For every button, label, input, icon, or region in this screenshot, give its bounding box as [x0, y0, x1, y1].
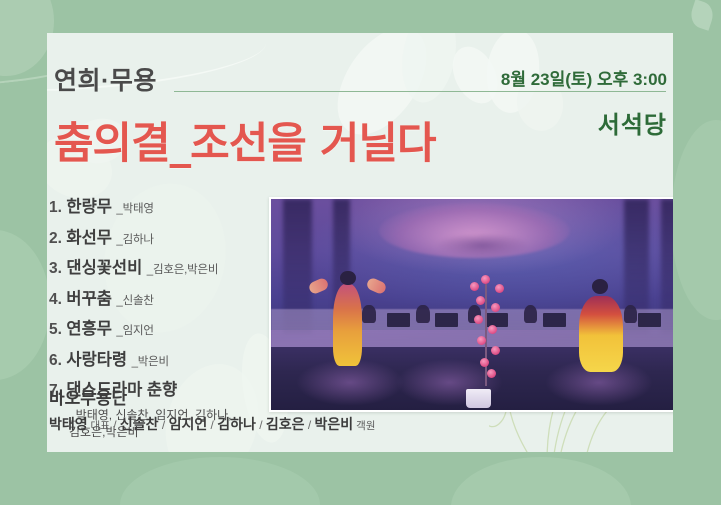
performance-date: 8월 23일(토) 오후 3:00	[501, 65, 667, 90]
program-item: 5. 연흥무 _임지언	[49, 315, 281, 339]
frame-blob-decoration	[120, 457, 320, 505]
frame-blob-decoration	[451, 457, 631, 505]
musician-figure	[416, 305, 429, 324]
member-name: 김호은	[266, 416, 305, 432]
poster-content-panel: 연희·무용 8월 23일(토) 오후 3:00 서석당 춤의결_조선을 거닐다 …	[47, 33, 673, 452]
member-name: 박태영	[49, 416, 88, 432]
program-item-number: 5.	[49, 321, 62, 338]
program-item-cast: _박은비	[132, 356, 169, 368]
program-item-cast: _임지언	[116, 325, 153, 337]
troupe-members: 박태영 대표 / 신솔찬 / 임지언 / 김하나 / 김호은 / 박은비 객원	[49, 414, 449, 434]
music-stand	[387, 313, 410, 327]
member-name: 신솔찬	[120, 416, 159, 432]
member-separator: /	[256, 418, 266, 432]
frame-blob-decoration	[671, 120, 721, 320]
vase-prop	[466, 389, 491, 408]
frame-blob-decoration	[0, 230, 50, 380]
dancer-figure-right	[574, 279, 628, 372]
header-divider	[174, 91, 666, 92]
member-name: 박은비	[315, 416, 354, 432]
program-item-title: 댄싱꽃선비	[66, 259, 142, 277]
program-item-title: 한량무	[66, 198, 112, 216]
program-item: 1. 한량무 _박태영	[49, 193, 281, 217]
program-item: 2. 화선무 _김하나	[49, 224, 281, 248]
program-item-cast: _박태영	[116, 203, 153, 215]
dancer-hanbok	[333, 284, 362, 366]
poster-root: 연희·무용 8월 23일(토) 오후 3:00 서석당 춤의결_조선을 거닐다 …	[0, 0, 721, 505]
poster-header: 연희·무용 8월 23일(토) 오후 3:00 서석당 춤의결_조선을 거닐다	[47, 33, 673, 153]
program-item-cast: _김하나	[116, 234, 153, 246]
dancer-head	[340, 271, 356, 286]
program-item-cast: _신솔찬	[116, 295, 153, 307]
program-item-number: 1.	[49, 199, 62, 216]
music-stand	[543, 313, 566, 327]
poster-footer: 바오무용단 박태영 대표 / 신솔찬 / 임지언 / 김하나 / 김호은 / 박…	[49, 384, 449, 434]
page-title: 춤의결_조선을 거닐다	[54, 109, 436, 171]
program-item-title: 연흥무	[66, 320, 112, 338]
program-item-number: 2.	[49, 230, 62, 247]
dancer-head	[592, 279, 608, 294]
troupe-name: 바오무용단	[49, 384, 449, 409]
member-separator: /	[207, 418, 217, 432]
stage-photo-image	[271, 199, 673, 410]
dancer-figure-left	[325, 269, 371, 366]
member-separator: /	[110, 418, 120, 432]
program-item: 4. 버꾸춤 _신솔찬	[49, 285, 281, 309]
member-role: 객원	[353, 420, 375, 432]
blossom-branch-prop	[454, 275, 520, 393]
member-role: 대표	[88, 420, 110, 432]
venue-name: 서석당	[598, 105, 667, 140]
program-item: 3. 댄싱꽃선비 _김호은,박은비	[49, 254, 281, 278]
program-item-title: 화선무	[66, 229, 112, 247]
program-item-number: 4.	[49, 291, 62, 308]
program-item-number: 3.	[49, 260, 62, 277]
musician-figure	[524, 305, 537, 324]
program-item-title: 버꾸춤	[66, 290, 112, 308]
dancer-hanbok	[579, 296, 622, 372]
member-separator: /	[305, 418, 315, 432]
music-stand	[638, 313, 661, 327]
program-item-cast: _김호은,박은비	[147, 264, 218, 276]
category-label: 연희·무용	[54, 61, 157, 97]
program-item-number: 6.	[49, 352, 62, 369]
member-separator: /	[159, 418, 169, 432]
leaf-icon	[688, 0, 717, 31]
program-item: 6. 사랑타령 _박은비	[49, 346, 281, 370]
member-name: 김하나	[217, 416, 256, 432]
program-item-title: 사랑타령	[66, 351, 127, 369]
member-name: 임지언	[169, 416, 208, 432]
performance-photo	[269, 197, 673, 412]
tree-shadow-projection	[437, 233, 528, 258]
